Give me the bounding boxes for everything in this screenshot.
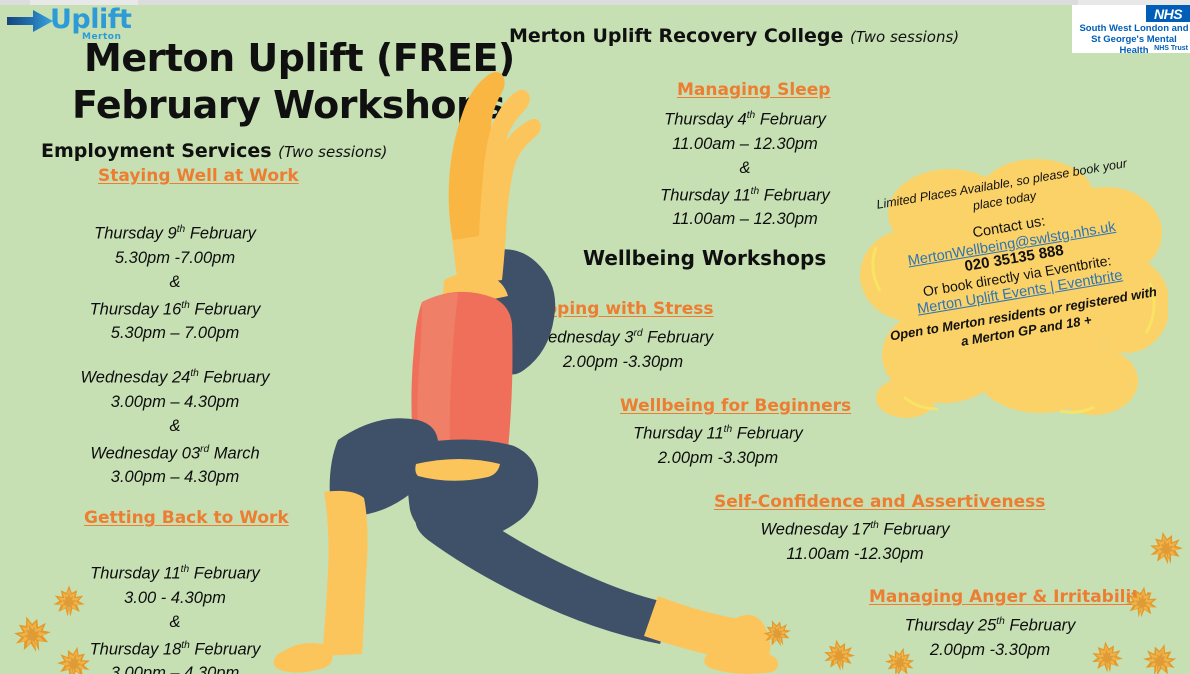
nhs-trust-sub: NHS Trust — [1154, 45, 1188, 52]
poster-canvas: Uplift Merton NHS South West London and … — [0, 0, 1190, 674]
top-border-strip — [0, 0, 1190, 5]
uplift-wordmark: Uplift — [50, 6, 131, 33]
maple-leaf-icon — [819, 635, 858, 674]
maple-leaf-icon — [1123, 583, 1161, 621]
workshop-title-managing-anger-irritability[interactable]: Managing Anger & Irritability — [869, 587, 1151, 607]
recovery-college-heading-note: (Two sessions) — [850, 28, 959, 46]
uplift-logo: Uplift Merton — [6, 4, 130, 48]
nhs-logo: NHS South West London and St George's Me… — [1072, 5, 1190, 53]
maple-leaf-icon — [1145, 527, 1188, 570]
maple-leaf-icon — [52, 584, 86, 618]
date-line: Thursday 25th February — [835, 610, 1145, 638]
yoga-figure-illustration — [246, 40, 806, 674]
uplift-sub-label: Merton — [82, 32, 121, 42]
contact-thought-bubble: Limited Places Available, so please book… — [858, 155, 1168, 420]
employment-services-heading-text: Employment Services — [41, 140, 272, 162]
maple-leaf-icon — [1088, 638, 1125, 674]
uplift-arrow-icon — [6, 4, 56, 38]
nhs-badge: NHS — [1146, 5, 1190, 22]
